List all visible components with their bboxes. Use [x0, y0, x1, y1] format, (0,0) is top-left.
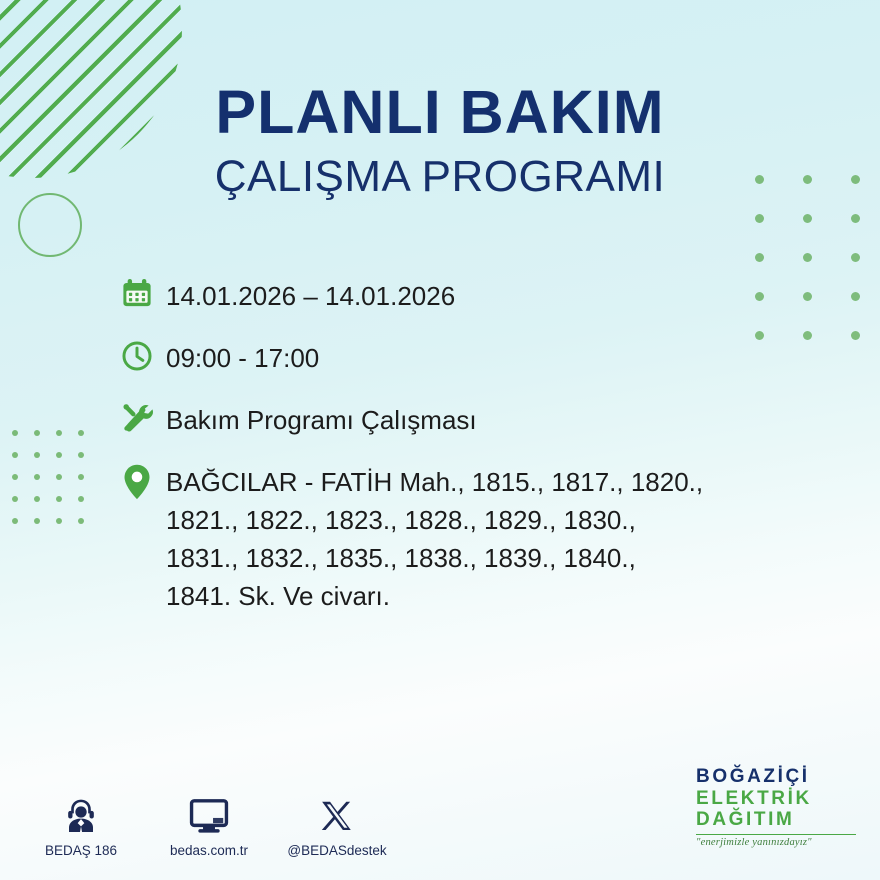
- detail-row-date: 14.01.2026 – 14.01.2026: [120, 275, 820, 315]
- website-label: bedas.com.tr: [170, 843, 248, 858]
- tools-icon: [120, 399, 166, 435]
- page-title: PLANLI BAKIM: [0, 82, 880, 143]
- brand-line-bogazici: BOĞAZİÇİ: [696, 766, 856, 788]
- contact-phone-item[interactable]: BEDAŞ 186: [34, 794, 128, 858]
- social-links: BEDAŞ 186 bedas.com.tr: [34, 794, 384, 858]
- address-text: BAĞCILAR - FATİH Mah., 1815., 1817., 182…: [166, 461, 703, 616]
- calendar-icon: [120, 275, 166, 311]
- location-pin-icon: [120, 461, 166, 501]
- clock-icon: [120, 337, 166, 373]
- detail-row-time: 09:00 - 17:00: [120, 337, 820, 377]
- bedas-logo: BOĞAZİÇİ ELEKTRİK DAĞITIM "enerjimizle y…: [696, 766, 856, 848]
- contact-phone-label: BEDAŞ 186: [45, 843, 117, 858]
- x-twitter-icon: [318, 794, 356, 836]
- dot-grid-left-decoration: [12, 430, 84, 524]
- detail-row-address: BAĞCILAR - FATİH Mah., 1815., 1817., 182…: [120, 461, 820, 616]
- brand-tagline: "enerjimizle yanınızdayız": [696, 837, 856, 848]
- x-account-label: @BEDASdestek: [287, 843, 386, 858]
- date-range-text: 14.01.2026 – 14.01.2026: [166, 275, 455, 315]
- poster-footer: BEDAŞ 186 bedas.com.tr: [0, 756, 880, 866]
- detail-row-work-type: Bakım Programı Çalışması: [120, 399, 820, 439]
- monitor-icon: [188, 794, 230, 836]
- x-account-item[interactable]: @BEDASdestek: [290, 794, 384, 858]
- time-range-text: 09:00 - 17:00: [166, 337, 319, 377]
- brand-line-dagitim: DAĞITIM: [696, 809, 856, 831]
- website-item[interactable]: bedas.com.tr: [162, 794, 256, 858]
- brand-line-elektrik: ELEKTRİK: [696, 788, 856, 810]
- poster-header: PLANLI BAKIM ÇALIŞMA PROGRAMI: [0, 82, 880, 199]
- brand-divider: [696, 834, 856, 835]
- planned-maintenance-poster: PLANLI BAKIM ÇALIŞMA PROGRAMI: [0, 0, 880, 880]
- circle-outline-decoration: [18, 193, 82, 257]
- work-type-text: Bakım Programı Çalışması: [166, 399, 477, 439]
- maintenance-details: 14.01.2026 – 14.01.2026 09:00 - 17:00: [120, 275, 820, 616]
- headset-support-icon: [61, 794, 101, 836]
- page-subtitle: ÇALIŞMA PROGRAMI: [0, 155, 880, 199]
